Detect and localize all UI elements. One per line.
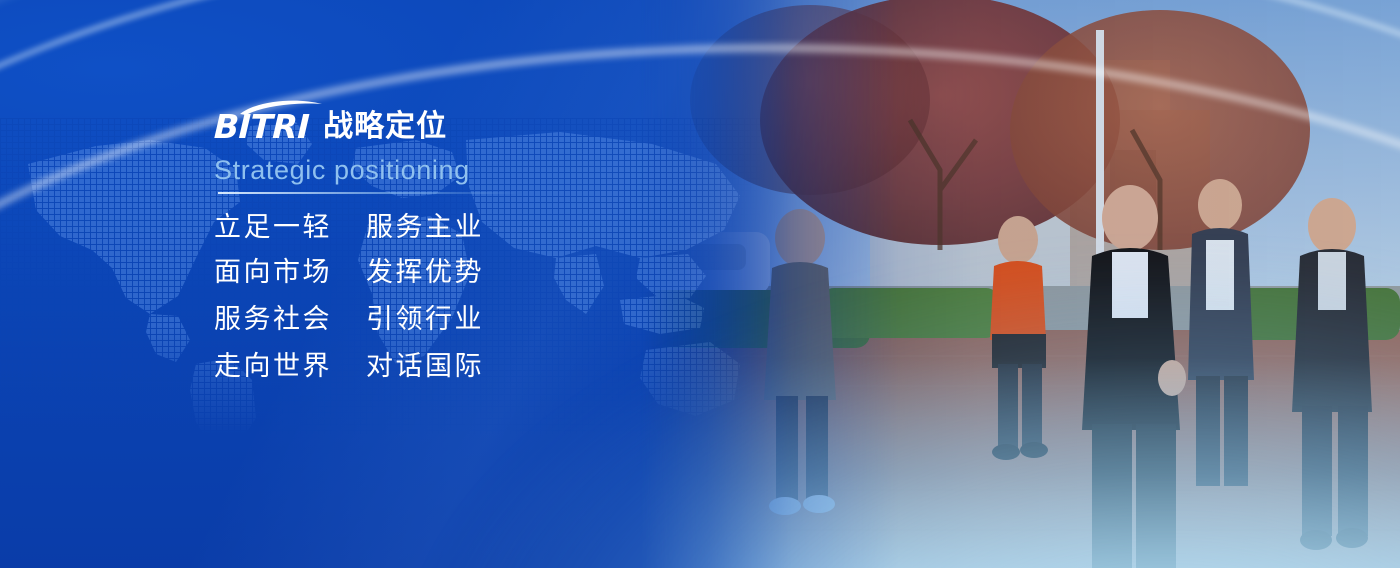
title-row: BITRI 战略定位 [214,110,447,143]
bitri-logo-text: BITRI [213,110,309,143]
slogan-line: 立足一轻 服务主业 [214,206,484,249]
title-chinese: 战略定位 [323,112,447,142]
subtitle-english: Strategic positioning [214,157,470,184]
bitri-logo: BITRI [214,110,309,143]
slogan-list: 立足一轻 服务主业 面向市场 发挥优势 服务社会 引领行业 走向世界 对话国际 [214,206,484,390]
banner-content: BITRI 战略定位 Strategic positioning 立足一轻 服务… [0,0,760,568]
slogan-line: 服务社会 引领行业 [214,296,484,343]
slogan-right: 对话国际 [366,343,484,390]
slogan-left: 走向世界 [214,343,366,390]
slogan-left: 面向市场 [214,249,366,296]
slogan-line: 面向市场 发挥优势 [214,249,484,296]
slogan-line: 走向世界 对话国际 [214,343,484,390]
slogan-right: 发挥优势 [366,249,484,296]
slogan-right: 服务主业 [366,206,484,249]
title-divider [218,192,520,194]
strategic-positioning-banner: BITRI 战略定位 Strategic positioning 立足一轻 服务… [0,0,1400,568]
slogan-right: 引领行业 [366,296,484,343]
slogan-left: 服务社会 [214,296,366,343]
slogan-left: 立足一轻 [214,206,366,249]
